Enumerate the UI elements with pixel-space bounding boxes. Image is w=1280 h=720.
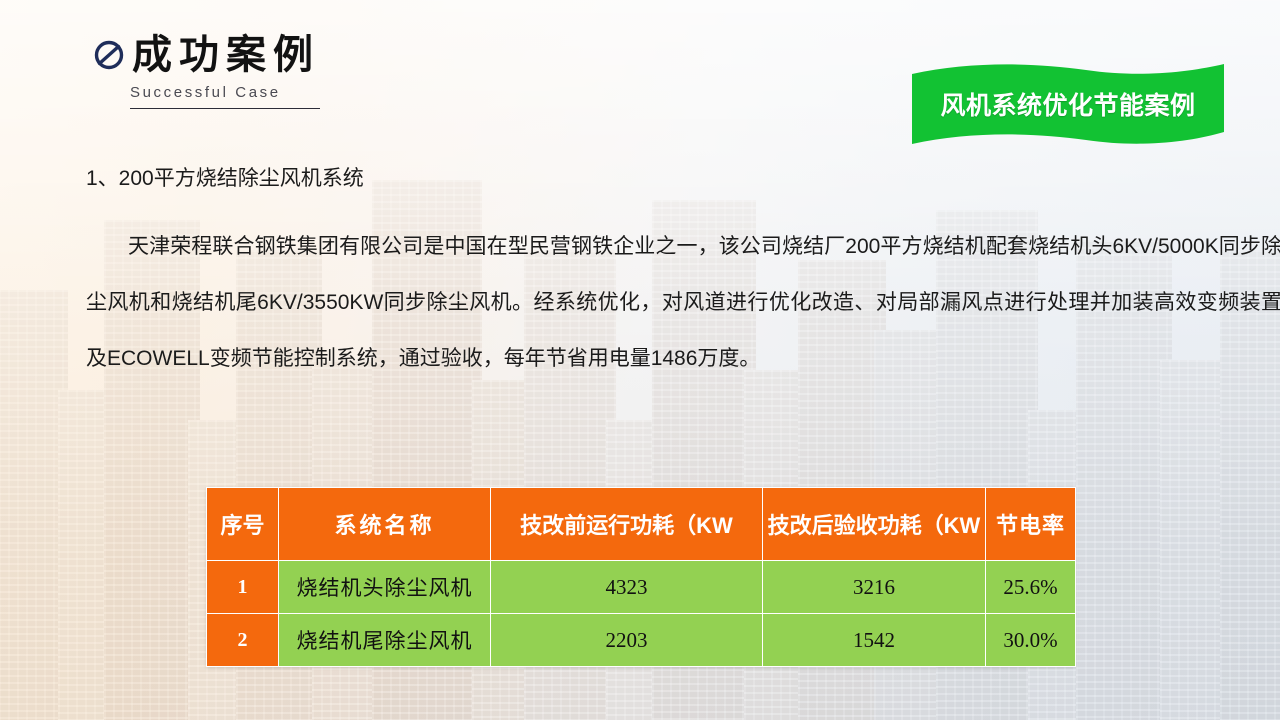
cell-rate: 25.6%: [986, 561, 1076, 614]
cell-rate: 30.0%: [986, 614, 1076, 667]
body-paragraph: 天津荣程联合钢铁集团有限公司是中国在型民营钢铁企业之一，该公司烧结厂200平方烧…: [86, 219, 1280, 387]
table-row: 2 烧结机尾除尘风机 2203 1542 30.0%: [207, 614, 1076, 667]
cell-name: 烧结机尾除尘风机: [279, 614, 491, 667]
table-header-before: 技改前运行功耗（KW: [491, 488, 763, 561]
page-subtitle: Successful Case: [130, 84, 320, 101]
cell-index: 1: [207, 561, 279, 614]
table-body: 1 烧结机头除尘风机 4323 3216 25.6% 2 烧结机尾除尘风机 22…: [207, 561, 1076, 667]
null-slash-icon: [92, 38, 126, 72]
cell-after: 1542: [763, 614, 986, 667]
ribbon-banner: 风机系统优化节能案例: [908, 60, 1228, 148]
ribbon-label: 风机系统优化节能案例: [908, 86, 1228, 122]
cell-after: 3216: [763, 561, 986, 614]
table-row: 1 烧结机头除尘风机 4323 3216 25.6%: [207, 561, 1076, 614]
cell-before: 4323: [491, 561, 763, 614]
page-title: 成功案例: [132, 34, 320, 76]
table-header-after: 技改后验收功耗（KW: [763, 488, 986, 561]
table-header-row: 序号 系统名称 技改前运行功耗（KW 技改后验收功耗（KW 节电率: [207, 488, 1076, 561]
table-header-index: 序号: [207, 488, 279, 561]
cell-before: 2203: [491, 614, 763, 667]
table-head: 序号 系统名称 技改前运行功耗（KW 技改后验收功耗（KW 节电率: [207, 488, 1076, 561]
cell-index: 2: [207, 614, 279, 667]
page-title-block: 成功案例 Successful Case: [92, 34, 320, 109]
table-header-rate: 节电率: [986, 488, 1076, 561]
body-text-block: 1、200平方烧结除尘风机系统 天津荣程联合钢铁集团有限公司是中国在型民营钢铁企…: [86, 168, 1276, 387]
results-table: 序号 系统名称 技改前运行功耗（KW 技改后验收功耗（KW 节电率 1 烧结机头…: [206, 487, 1076, 667]
lead-line: 1、200平方烧结除尘风机系统: [86, 168, 1276, 189]
table-header-name: 系统名称: [279, 488, 491, 561]
slide-root: 成功案例 Successful Case 风机系统优化节能案例 1、200平方烧…: [0, 0, 1280, 720]
title-underline: [130, 108, 320, 109]
cell-name: 烧结机头除尘风机: [279, 561, 491, 614]
